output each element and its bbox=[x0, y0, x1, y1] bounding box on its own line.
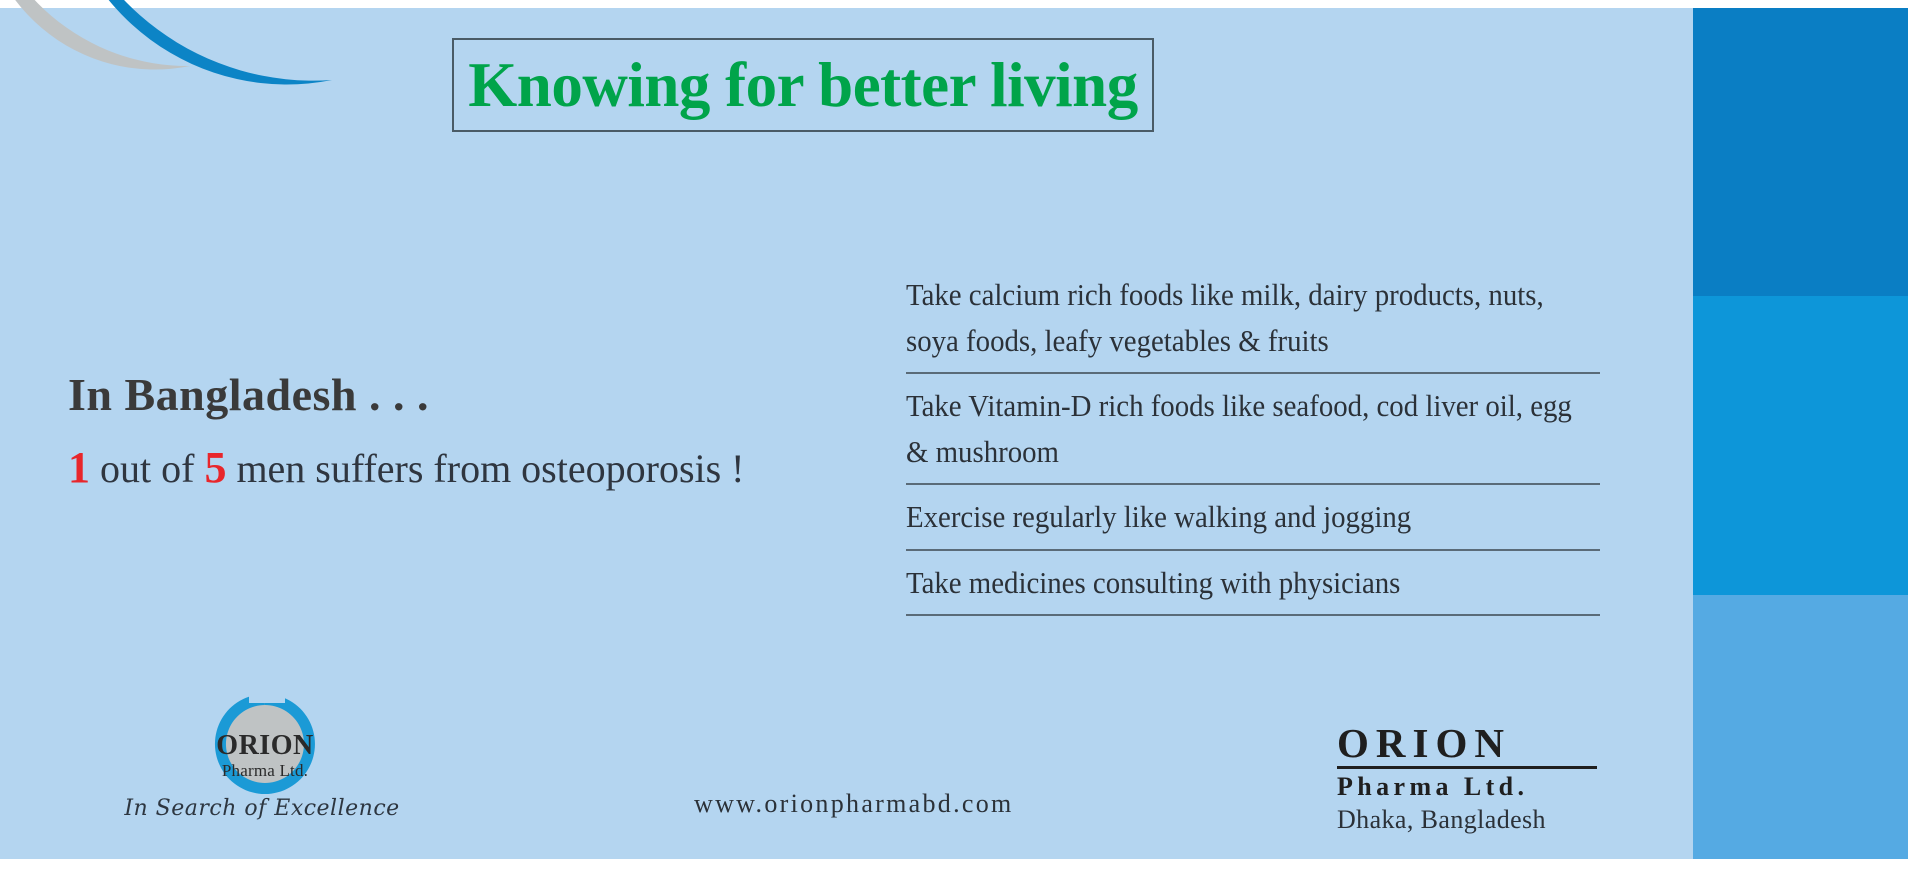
orion-tagline: In Search of Excellence bbox=[112, 796, 412, 821]
orion-brand-block: ORION Pharma Ltd. Dhaka, Bangladesh bbox=[1337, 722, 1597, 836]
advice-item-text: Take medicines consulting with physician… bbox=[906, 560, 1597, 606]
headline-box: Knowing for better living bbox=[452, 38, 1154, 132]
orion-logo-name: ORION bbox=[150, 732, 380, 760]
advice-item: Take calcium rich foods like milk, dairy… bbox=[906, 272, 1600, 374]
advice-item-text: Exercise regularly like walking and jogg… bbox=[906, 494, 1597, 540]
advice-item: Exercise regularly like walking and jogg… bbox=[906, 494, 1600, 551]
advice-item: Take medicines consulting with physician… bbox=[906, 560, 1600, 617]
orion-brand-name: ORION bbox=[1337, 722, 1597, 769]
advice-list: Take calcium rich foods like milk, dairy… bbox=[906, 272, 1600, 625]
stat-tail-text: men suffers from osteoporosis ! bbox=[226, 446, 744, 491]
orion-logo: ORION Pharma Ltd. In Search of Excellenc… bbox=[150, 688, 430, 848]
corner-swoosh-decoration bbox=[0, 0, 400, 138]
orion-logo-subtitle: Pharma Ltd. bbox=[150, 760, 380, 781]
side-bar-light bbox=[1693, 595, 1908, 859]
advice-item: Take Vitamin-D rich foods like seafood, … bbox=[906, 383, 1600, 485]
country-heading: In Bangladesh . . . bbox=[68, 368, 688, 421]
slide-canvas: Knowing for better living In Bangladesh … bbox=[0, 0, 1908, 869]
headline-text: Knowing for better living bbox=[468, 54, 1137, 117]
side-bar-dark bbox=[1693, 8, 1908, 296]
stat-middle-text: out of bbox=[90, 446, 204, 491]
website-url[interactable]: www.orionpharmabd.com bbox=[694, 789, 1014, 819]
orion-brand-subtitle: Pharma Ltd. bbox=[1337, 769, 1597, 804]
side-bar-medium bbox=[1693, 296, 1908, 595]
stat-denominator: 5 bbox=[204, 443, 226, 492]
statistic-line: 1 out of 5 men suffers from osteoporosis… bbox=[68, 443, 688, 494]
orion-logo-wordmark: ORION Pharma Ltd. bbox=[150, 732, 380, 781]
top-white-margin bbox=[0, 0, 1908, 8]
bottom-white-margin bbox=[0, 859, 1908, 869]
advice-item-text: Take calcium rich foods like milk, dairy… bbox=[906, 272, 1597, 363]
stat-numerator: 1 bbox=[68, 443, 90, 492]
orion-brand-city: Dhaka, Bangladesh bbox=[1337, 804, 1597, 837]
left-statement-block: In Bangladesh . . . 1 out of 5 men suffe… bbox=[68, 368, 688, 494]
advice-item-text: Take Vitamin-D rich foods like seafood, … bbox=[906, 383, 1597, 474]
